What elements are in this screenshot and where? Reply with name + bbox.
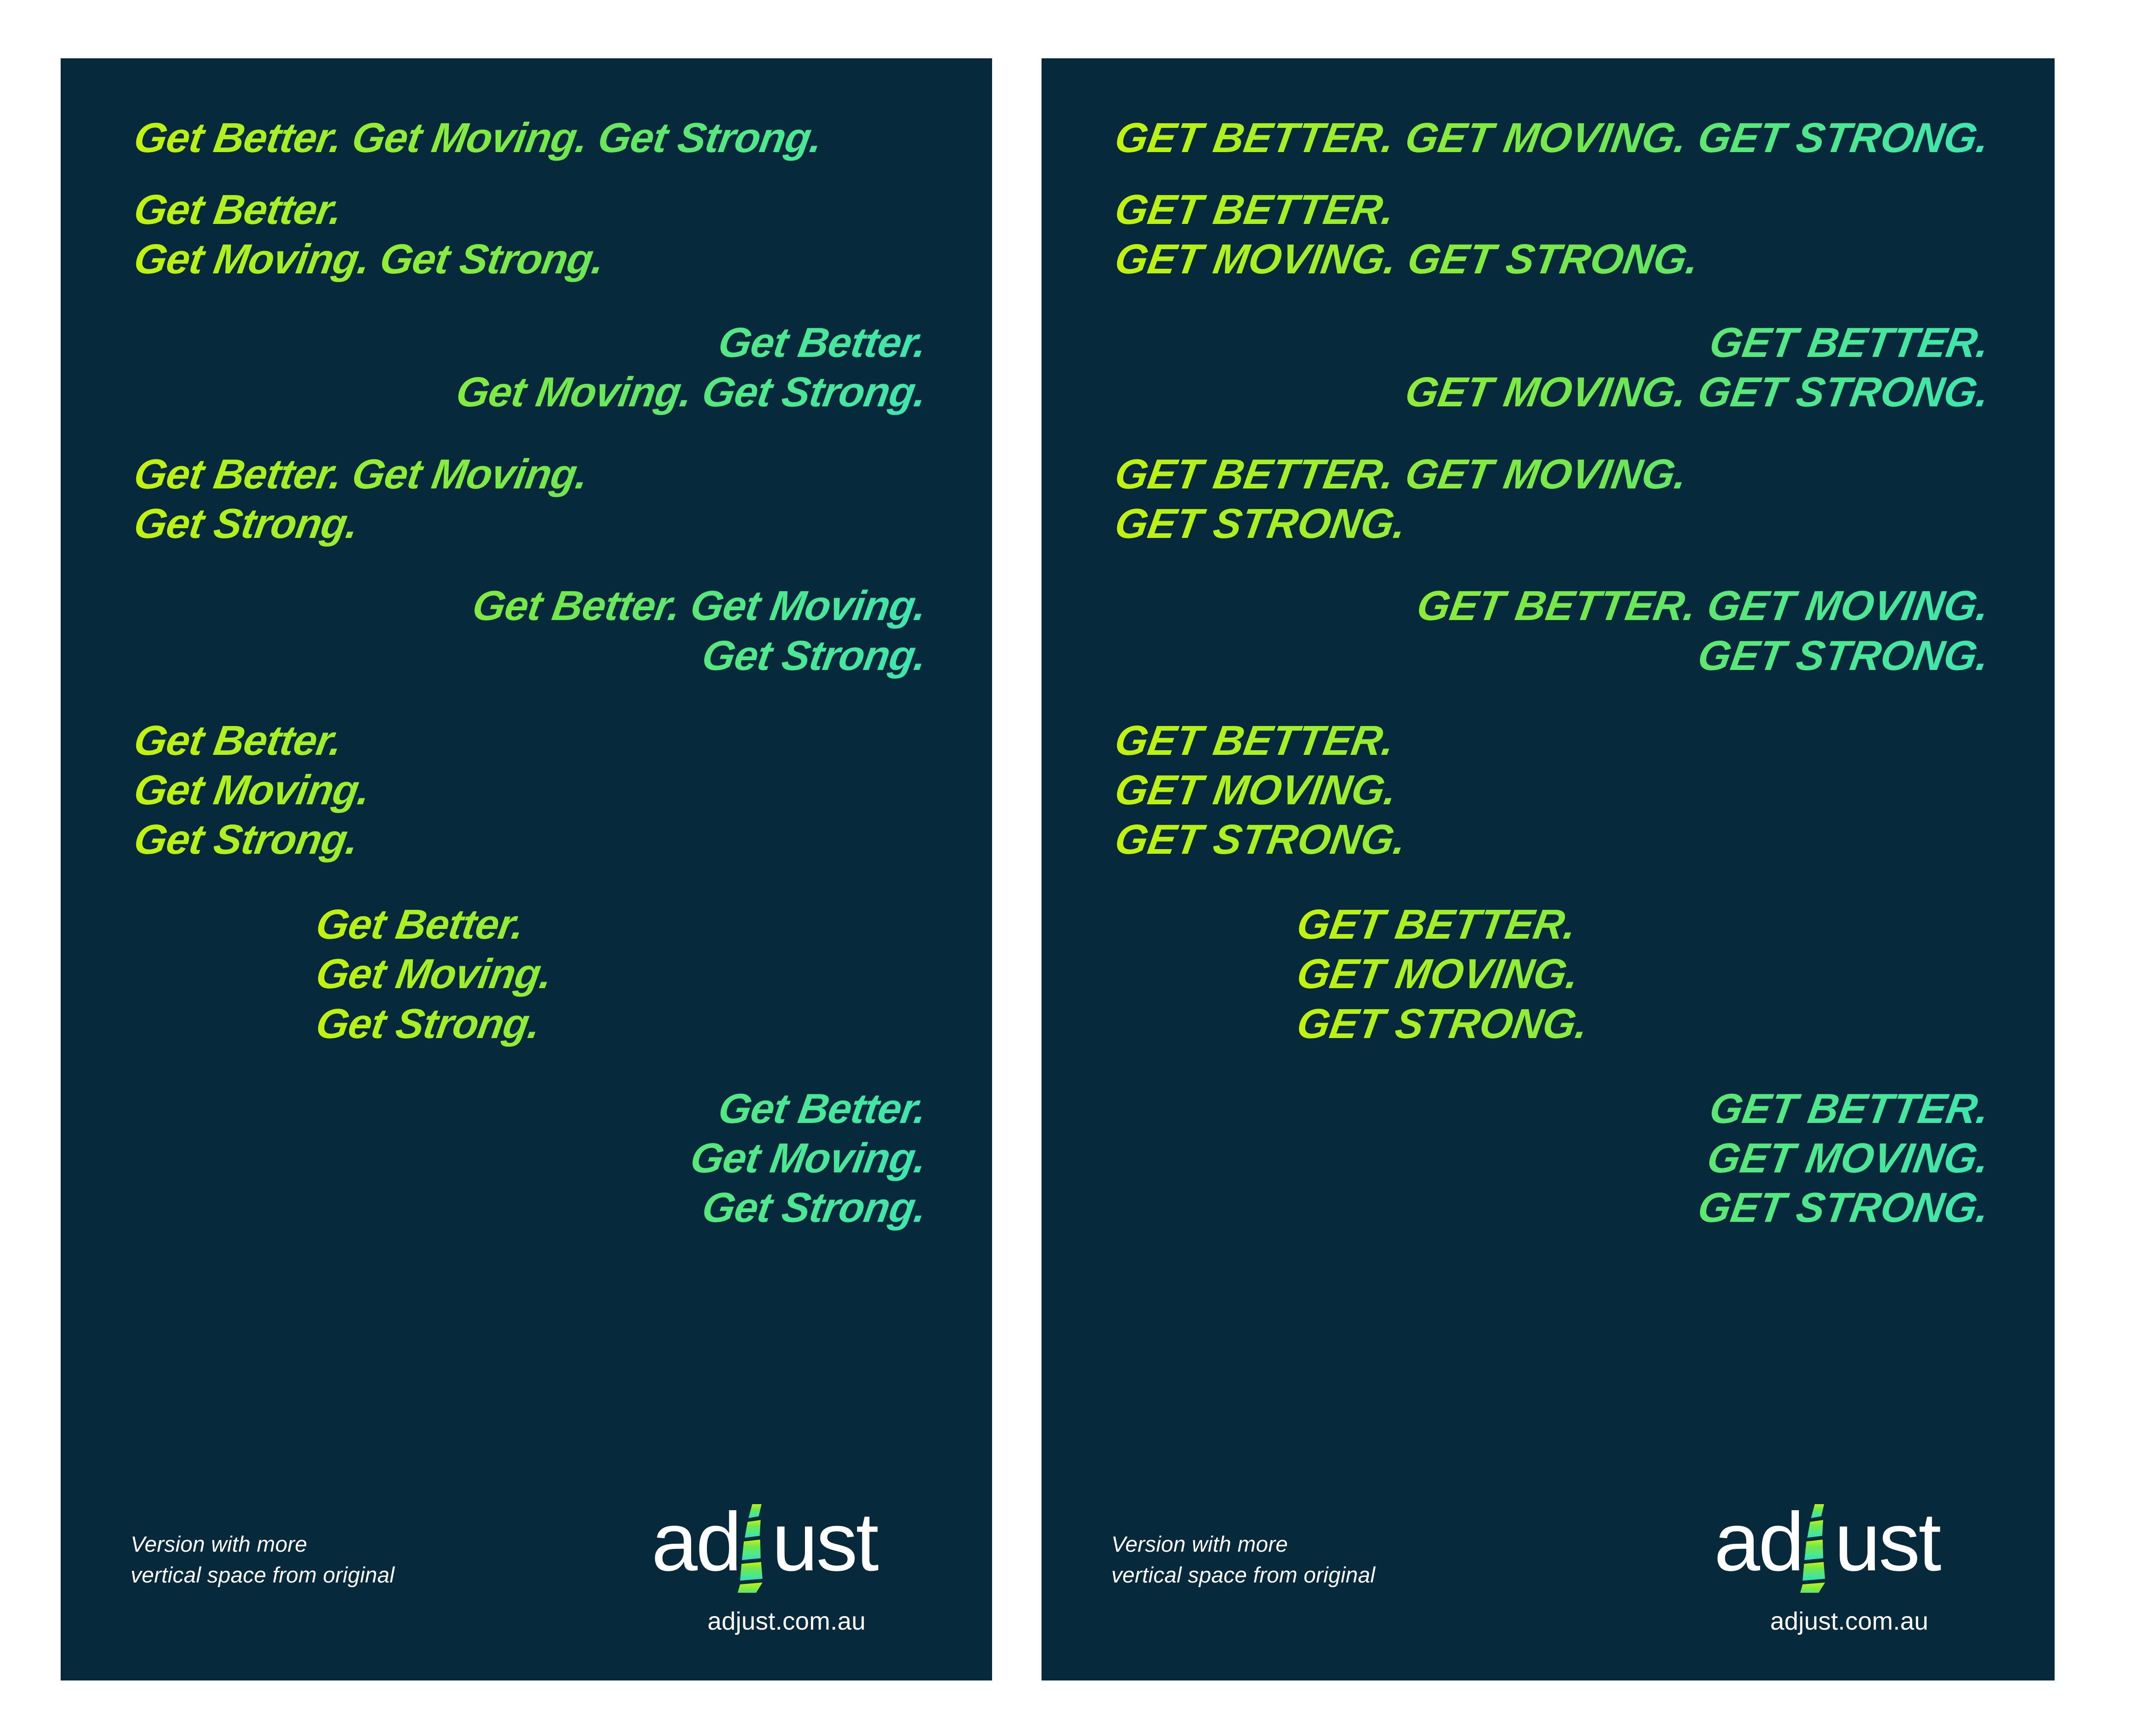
tagline-line: Get Strong. <box>131 499 930 549</box>
tagline-line: GET BETTER. <box>1112 716 1993 766</box>
tagline-block: Get Better. Get Moving. Get Strong. <box>131 450 922 549</box>
tagline-block: GET BETTER. GET MOVING. GET STRONG. <box>1112 1084 1985 1233</box>
tagline-block: GET BETTER. GET MOVING. GET STRONG. <box>1112 185 1985 284</box>
tagline-line: GET MOVING. GET STRONG. <box>1112 368 1993 417</box>
poster-panel-uppercase: GET BETTER. GET MOVING. GET STRONG. GET … <box>1042 58 2055 1680</box>
tagline-block: GET BETTER. GET MOVING. GET STRONG. <box>1112 450 1985 549</box>
tagline-line: Get Better. Get Moving. <box>131 581 930 631</box>
tagline-line: Get Moving. Get Strong. <box>131 368 930 417</box>
tagline-block: GET BETTER. GET MOVING. GET STRONG. <box>1112 716 1985 865</box>
tagline-line: GET MOVING. <box>1112 1134 1993 1183</box>
tagline-line: Get Moving. <box>131 766 930 815</box>
tagline-line: GET MOVING. <box>1294 949 1993 999</box>
tagline-line: Get Strong. <box>131 631 930 681</box>
tagline-line: GET STRONG. <box>1112 815 1993 865</box>
panel-footer: Version with more vertical space from or… <box>131 1504 922 1636</box>
version-caption: Version with more vertical space from or… <box>1112 1529 1376 1636</box>
poster-sheet: Get Better. Get Moving. Get Strong. Get … <box>0 0 2133 1736</box>
tagline-block: GET BETTER. GET MOVING. GET STRONG. <box>1112 318 1985 417</box>
tagline-line: Get Better. <box>131 716 930 766</box>
svg-text:ad: ad <box>651 1504 740 1588</box>
brand-domain[interactable]: adjust.com.au <box>707 1607 866 1636</box>
tagline-line: Get Strong. <box>313 999 930 1049</box>
tagline-line: GET BETTER. <box>1112 1084 1993 1134</box>
tagline-line: Get Strong. <box>131 1183 930 1233</box>
tagline-line: GET BETTER. <box>1112 185 1993 235</box>
svg-text:ust: ust <box>1834 1504 1941 1588</box>
brand-domain[interactable]: adjust.com.au <box>1770 1607 1929 1636</box>
tagline-block: Get Better. Get Moving. Get Strong. <box>131 716 922 865</box>
tagline-line: Get Moving. Get Strong. <box>131 235 930 284</box>
tagline-line: GET BETTER. <box>1112 318 1993 368</box>
tagline-block: Get Better. Get Moving. Get Strong. <box>131 185 922 284</box>
tagline-line: GET BETTER. GET MOVING. <box>1112 450 1993 499</box>
adjust-wordmark: ad ust <box>651 1504 922 1593</box>
svg-text:ust: ust <box>772 1504 879 1588</box>
tagline-line: GET STRONG. <box>1112 499 1993 549</box>
poster-panel-titlecase: Get Better. Get Moving. Get Strong. Get … <box>61 58 992 1680</box>
tagline-line: GET BETTER. GET MOVING. GET STRONG. <box>1112 113 1993 163</box>
tagline-line: Get Moving. <box>131 1134 930 1183</box>
tagline-block: Get Better. Get Moving. Get Strong. <box>131 581 922 680</box>
tagline-block: GET BETTER. GET MOVING. GET STRONG. <box>1112 581 1985 680</box>
tagline-line: Get Better. <box>313 900 930 949</box>
tagline-line: GET BETTER. <box>1294 900 1993 949</box>
brand-lockup: ad ust adjust.com.au <box>1714 1504 1985 1636</box>
tagline-line: GET STRONG. <box>1112 631 1993 681</box>
tagline-block: Get Better. Get Moving. Get Strong. <box>131 1084 922 1233</box>
tagline-block-stack: GET BETTER. GET MOVING. GET STRONG. GET … <box>1112 113 1985 1233</box>
tagline-block: Get Better. Get Moving. Get Strong. <box>131 113 922 163</box>
tagline-line: Get Better. <box>131 185 930 235</box>
tagline-block: Get Better. Get Moving. Get Strong. <box>131 900 922 1049</box>
tagline-line: Get Better. <box>131 318 930 368</box>
panel-footer: Version with more vertical space from or… <box>1112 1504 1985 1636</box>
tagline-block-stack: Get Better. Get Moving. Get Strong. Get … <box>131 113 922 1233</box>
tagline-line: Get Strong. <box>131 815 930 865</box>
poster-panels: Get Better. Get Moving. Get Strong. Get … <box>61 58 2055 1680</box>
tagline-line: Get Better. Get Moving. <box>131 450 930 499</box>
tagline-block: Get Better. Get Moving. Get Strong. <box>131 318 922 417</box>
tagline-line: Get Moving. <box>313 949 930 999</box>
tagline-line: GET STRONG. <box>1112 1183 1993 1233</box>
adjust-wordmark: ad ust <box>1714 1504 1985 1593</box>
version-caption: Version with more vertical space from or… <box>131 1529 395 1636</box>
brand-lockup: ad ust adjust.com.au <box>651 1504 922 1636</box>
tagline-line: Get Better. <box>131 1084 930 1134</box>
tagline-block: GET BETTER. GET MOVING. GET STRONG. <box>1112 113 1985 163</box>
svg-text:ad: ad <box>1714 1504 1803 1588</box>
tagline-line: GET STRONG. <box>1294 999 1993 1049</box>
tagline-line: GET MOVING. <box>1112 766 1993 815</box>
tagline-line: GET BETTER. GET MOVING. <box>1112 581 1993 631</box>
tagline-line: Get Better. Get Moving. Get Strong. <box>131 113 930 163</box>
tagline-line: GET MOVING. GET STRONG. <box>1112 235 1993 284</box>
tagline-block: GET BETTER. GET MOVING. GET STRONG. <box>1112 900 1985 1049</box>
